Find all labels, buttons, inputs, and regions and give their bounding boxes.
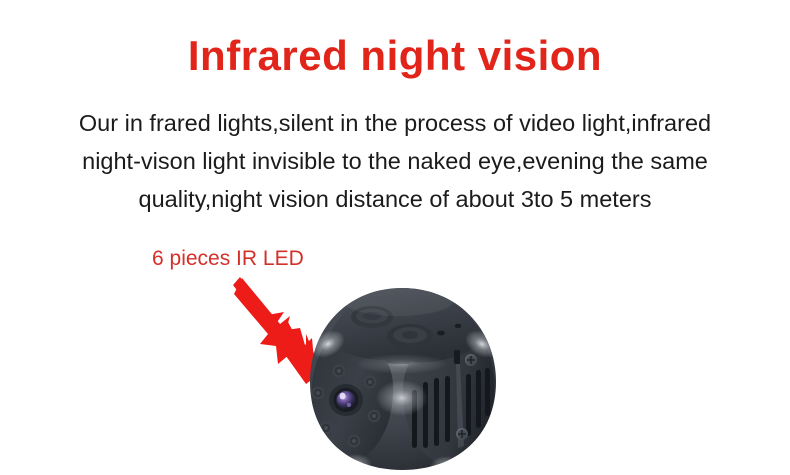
description-line-3: quality,night vision distance of about 3… — [18, 180, 772, 218]
product-infographic: Infrared night vision Our in frared ligh… — [0, 0, 790, 475]
camera-lens — [329, 384, 363, 416]
ir-led — [320, 422, 333, 435]
page-title: Infrared night vision — [0, 34, 790, 78]
ir-led-callout-label: 6 pieces IR LED — [152, 247, 304, 271]
description-line-1: Our in frared lights,silent in the proce… — [18, 104, 772, 142]
ir-led — [312, 387, 325, 400]
description-paragraph: Our in frared lights,silent in the proce… — [18, 104, 772, 218]
camera-illustration — [306, 286, 498, 472]
camera-body — [306, 286, 498, 472]
ir-led — [348, 435, 361, 448]
slot-port — [454, 350, 460, 364]
phillips-screw — [456, 428, 468, 440]
ir-led — [333, 365, 346, 378]
ir-led — [364, 376, 377, 389]
reset-pinhole — [455, 324, 462, 328]
mic-pinhole — [437, 331, 445, 336]
description-line-2: night-vison light invisible to the naked… — [18, 142, 772, 180]
ir-led — [368, 410, 381, 423]
mini-cube-camera — [306, 286, 498, 472]
phillips-screw — [465, 354, 477, 366]
speaker-vent-group — [466, 368, 490, 436]
